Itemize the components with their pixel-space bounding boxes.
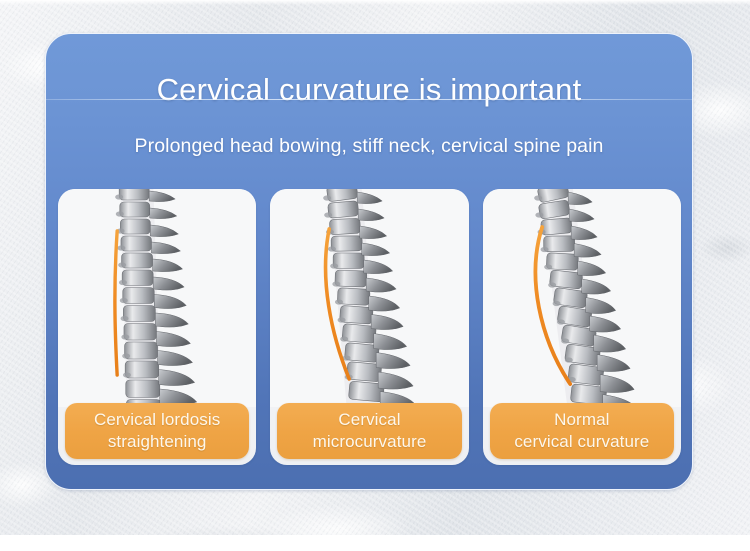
info-card: Cervical curvature is important Prolonge…: [45, 33, 693, 490]
spine-illustration-normal: [483, 189, 681, 407]
page-subtitle: Prolonged head bowing, stiff neck, cervi…: [46, 137, 692, 157]
panel-normal[interactable]: Normal cervical curvature: [483, 189, 681, 465]
caption-text: Normal cervical curvature: [514, 409, 649, 453]
caption-text: Cervical lordosis straightening: [94, 409, 220, 453]
caption-text: Cervical microcurvature: [313, 409, 427, 453]
panel-straightening[interactable]: Cervical lordosis straightening: [58, 189, 256, 465]
background-bottom-strip: [0, 535, 750, 551]
spine-illustration-straightening: [58, 189, 256, 407]
spine-illustration-microcurvature: [270, 189, 468, 407]
background-top-highlight: [0, 0, 750, 5]
panel-caption-normal: Normal cervical curvature: [490, 403, 674, 459]
panel-caption-microcurvature: Cervical microcurvature: [277, 403, 461, 459]
page-title: Cervical curvature is important: [46, 74, 692, 105]
panel-microcurvature[interactable]: Cervical microcurvature: [270, 189, 468, 465]
panel-row: Cervical lordosis straightening: [58, 189, 681, 465]
header-divider: [46, 99, 692, 100]
panel-caption-straightening: Cervical lordosis straightening: [65, 403, 249, 459]
